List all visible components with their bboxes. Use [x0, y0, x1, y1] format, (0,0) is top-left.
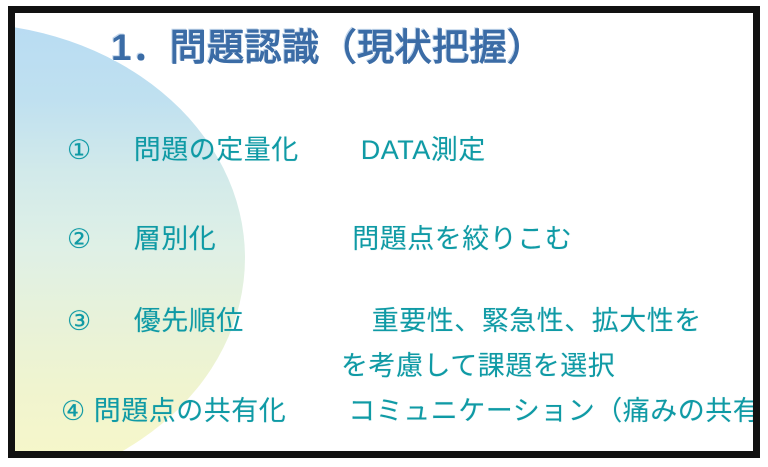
item-term-2: 層別化: [134, 217, 217, 256]
slide-canvas: 1．問題認識（現状把握） ① 問題の定量化 DATA測定 ② 層別化 問題点を絞…: [15, 13, 753, 451]
item-detail-4: コミュニケーション（痛みの共有）: [348, 396, 753, 426]
list-item: ② 層別化 問題点を絞りこむ: [67, 217, 572, 256]
item-marker-4: ④: [61, 396, 86, 427]
item-term-4: 問題点の共有化: [94, 389, 287, 428]
item-detail-1: DATA測定: [361, 135, 486, 165]
item-detail-3-continuation: を考慮して課題を選択: [341, 344, 615, 383]
slide-frame: 1．問題認識（現状把握） ① 問題の定量化 DATA測定 ② 層別化 問題点を絞…: [8, 6, 760, 458]
slide-title: 1．問題認識（現状把握）: [111, 17, 545, 71]
item-term-1: 問題の定量化: [134, 128, 299, 167]
item-marker-1: ①: [67, 135, 92, 166]
slide-content: 1．問題認識（現状把握） ① 問題の定量化 DATA測定 ② 層別化 問題点を絞…: [15, 13, 753, 451]
list-item: ③ 優先順位 重要性、緊急性、拡大性を: [67, 299, 702, 338]
item-detail-3: 重要性、緊急性、拡大性を: [372, 306, 702, 336]
item-marker-3: ③: [67, 306, 92, 337]
item-term-3: 優先順位: [134, 299, 244, 338]
item-detail-2: 問題点を絞りこむ: [352, 224, 572, 254]
list-item: ① 問題の定量化 DATA測定: [67, 128, 486, 167]
list-item: ④ 問題点の共有化 コミュニケーション（痛みの共有）: [61, 389, 753, 428]
item-marker-2: ②: [67, 224, 92, 255]
